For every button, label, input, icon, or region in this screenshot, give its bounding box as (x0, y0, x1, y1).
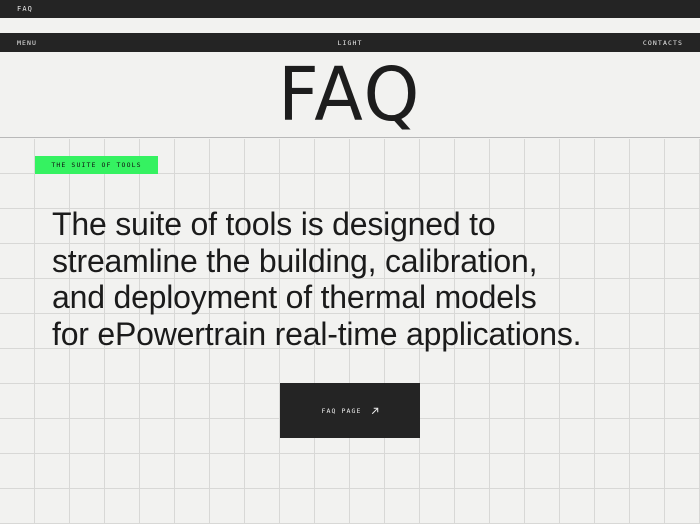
hero-header: FAQ (0, 52, 700, 138)
section-paragraph: The suite of tools is designed to stream… (52, 206, 652, 352)
arrow-up-right-icon (371, 407, 379, 415)
nav-brand-label[interactable]: LIGHT (0, 39, 700, 47)
site-navbar: MENU LIGHT CONTACTS (0, 33, 700, 52)
page-title: FAQ (278, 58, 421, 132)
browser-tab-label: FAQ (0, 5, 33, 13)
paragraph-line: and deployment of thermal models (52, 279, 652, 316)
section-badge: THE SUITE OF TOOLS (35, 156, 158, 174)
faq-page-button[interactable]: FAQ PAGE (280, 383, 420, 438)
paragraph-line: streamline the building, calibration, (52, 243, 652, 280)
faq-page-button-label: FAQ PAGE (321, 407, 361, 415)
paragraph-line: for ePowertrain real-time applications. (52, 316, 652, 353)
section-badge-label: THE SUITE OF TOOLS (51, 161, 141, 169)
browser-top-bar: FAQ (0, 0, 700, 18)
faq-page: FAQ MENU LIGHT CONTACTS FAQ THE SUITE OF… (0, 0, 700, 524)
paragraph-line: The suite of tools is designed to (52, 206, 652, 243)
